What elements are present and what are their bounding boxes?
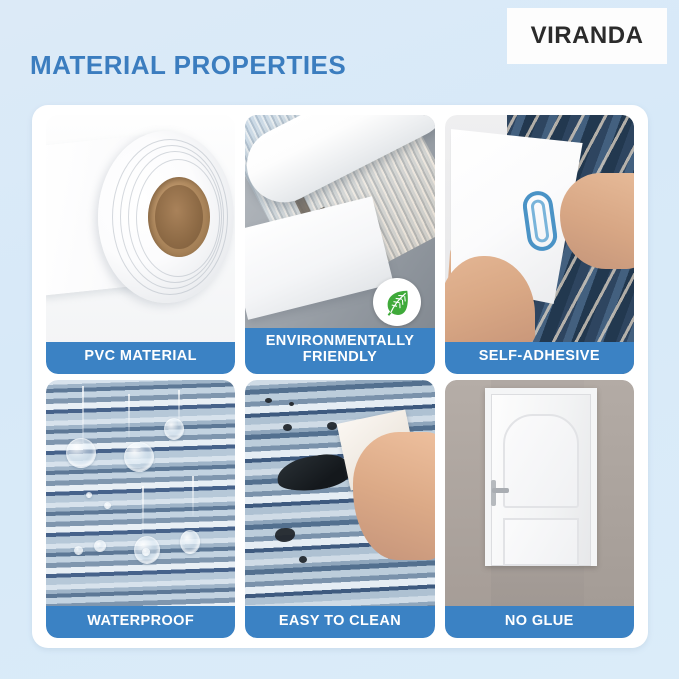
feature-cell-self-adhesive[interactable]: SELF-ADHESIVE (445, 115, 634, 374)
feature-label-self-adhesive: SELF-ADHESIVE (445, 342, 634, 374)
eco-leaf-badge (373, 278, 421, 326)
brand-name: VIRANDA (531, 22, 644, 50)
brand-badge: VIRANDA (507, 8, 667, 64)
easy-to-clean-photo (245, 380, 434, 639)
feature-label-environmentally-friendly: ENVIRONMENTALLY FRIENDLY (245, 328, 434, 374)
pvc-roll-photo (46, 115, 235, 374)
page-title: MATERIAL PROPERTIES (30, 50, 346, 81)
feature-cell-no-glue[interactable]: NO GLUE (445, 380, 634, 639)
waterproof-photo (46, 380, 235, 639)
page-header: MATERIAL PROPERTIES VIRANDA (0, 0, 679, 105)
no-glue-door-photo (445, 380, 634, 639)
feature-cell-pvc-material[interactable]: PVC MATERIAL (46, 115, 235, 374)
feature-cell-easy-to-clean[interactable]: EASY TO CLEAN (245, 380, 434, 639)
features-card: PVC MATERIAL (32, 105, 648, 648)
leaf-icon (382, 287, 412, 317)
feature-label-no-glue: NO GLUE (445, 606, 634, 638)
features-grid: PVC MATERIAL (46, 115, 634, 638)
feature-label-pvc-material: PVC MATERIAL (46, 342, 235, 374)
self-adhesive-photo (445, 115, 634, 374)
feature-label-easy-to-clean: EASY TO CLEAN (245, 606, 434, 638)
feature-cell-environmentally-friendly[interactable]: ENVIRONMENTALLY FRIENDLY (245, 115, 434, 374)
feature-label-waterproof: WATERPROOF (46, 606, 235, 638)
feature-cell-waterproof[interactable]: WATERPROOF (46, 380, 235, 639)
